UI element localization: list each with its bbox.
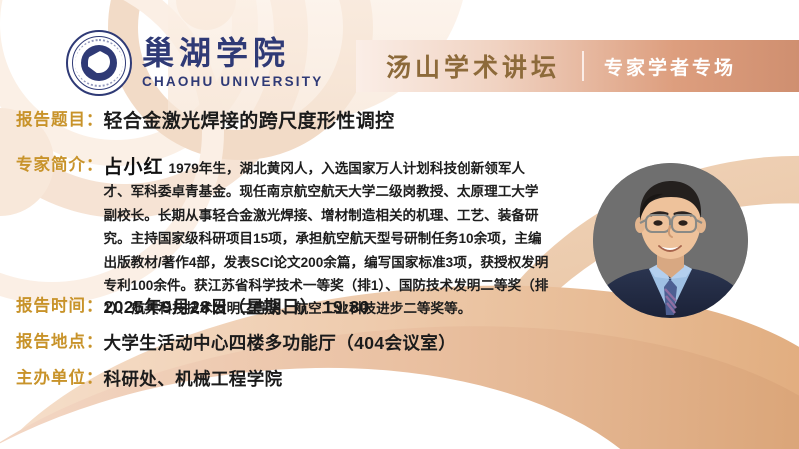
report-host-value: 科研处、机械工程学院	[104, 366, 283, 392]
speaker-portrait	[593, 163, 748, 318]
seminar-poster: 巢湖学院 CHAOHU UNIVERSITY 汤山学术讲坛 专家学者专场 报告题…	[0, 0, 799, 449]
report-time-label: 报告时间：	[16, 294, 104, 319]
speaker-name: 占小红	[104, 157, 164, 178]
report-title-row: 报告题目： 轻合金激光焊接的跨尺度形性调控	[16, 108, 395, 137]
report-title-value: 轻合金激光焊接的跨尺度形性调控	[104, 108, 395, 137]
speaker-bio-label: 专家简介：	[16, 152, 104, 178]
speaker-bio-text: 1979年生，湖北黄冈人，入选国家万人计划科技创新领军人才、军科委卓青基金。现任…	[104, 161, 549, 316]
report-host-label: 主办单位：	[16, 366, 104, 391]
report-place-row: 报告地点： 大学生活动中心四楼多功能厅（404会议室）	[16, 330, 456, 356]
report-title-label: 报告题目：	[16, 108, 104, 133]
report-time-row: 报告时间： 2025年9月28日（星期日） 19:30	[16, 294, 370, 320]
report-host-row: 主办单位： 科研处、机械工程学院	[16, 366, 283, 392]
report-time-value: 2025年9月28日（星期日） 19:30	[104, 294, 370, 320]
report-place-value: 大学生活动中心四楼多功能厅（404会议室）	[104, 330, 457, 356]
report-place-label: 报告地点：	[16, 330, 104, 355]
